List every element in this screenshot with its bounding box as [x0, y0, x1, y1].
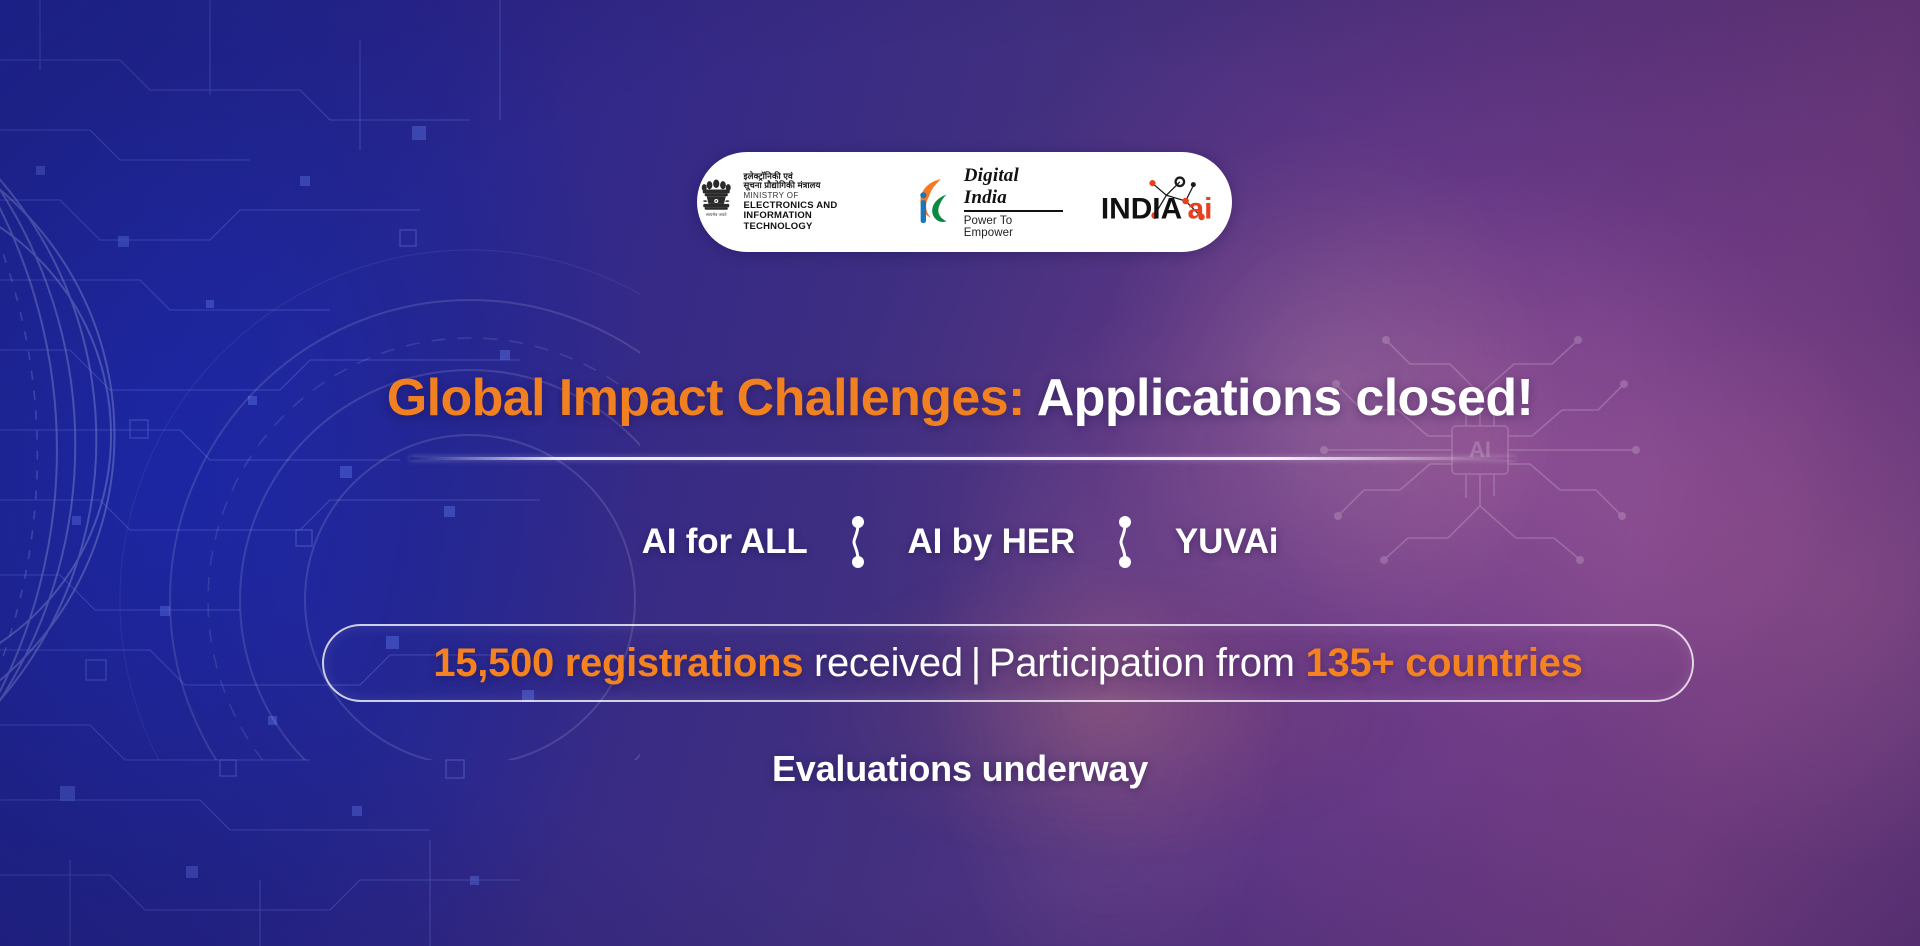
meity-english-line-3: INFORMATION TECHNOLOGY	[743, 211, 878, 232]
registrations-value: 15,500 registrations	[433, 641, 803, 685]
meity-logo: सत्यमेव जयते इलेक्ट्रॉनिकी एवं सूचना प्र…	[697, 172, 878, 233]
countries-prefix: Participation from	[989, 641, 1306, 685]
challenge-yuvai: YUVAi	[1175, 522, 1278, 562]
logo-bar: सत्यमेव जयते इलेक्ट्रॉनिकी एवं सूचना प्र…	[697, 152, 1232, 252]
digital-india-title: Digital India	[964, 165, 1063, 212]
dumbbell-connector-icon	[846, 512, 870, 572]
meity-hindi-line-2: सूचना प्रौद्योगिकी मंत्रालय	[743, 181, 878, 191]
indiaai-logo: INDIA ai	[1097, 171, 1232, 233]
headline-highlight: Global Impact Challenges:	[387, 369, 1025, 427]
statistics-box: 15,500 registrations received|Participat…	[322, 624, 1694, 702]
status-text: Evaluations underway	[0, 748, 1920, 790]
indiaai-text-accent: ai	[1188, 192, 1213, 225]
dumbbell-connector-icon-2	[1113, 512, 1137, 572]
challenge-ai-for-all: AI for ALL	[642, 522, 808, 562]
indiaai-text-dark: INDIA	[1101, 192, 1182, 225]
title-divider	[410, 457, 1515, 460]
digital-india-logo: Digital India Power To Empower	[912, 165, 1063, 239]
challenge-list: AI for ALL AI by HER YUVAi	[0, 512, 1920, 572]
countries-value: 135+ countries	[1306, 641, 1583, 685]
digital-india-mark-icon	[912, 174, 954, 230]
stats-divider: |	[963, 641, 989, 685]
digital-india-tagline: Power To Empower	[964, 215, 1063, 239]
background-vignette	[0, 0, 1920, 946]
emblem-motto-text: सत्यमेव जयते	[706, 212, 727, 217]
india-state-emblem-icon: सत्यमेव जयते	[697, 174, 735, 230]
registrations-suffix: received	[803, 641, 963, 685]
headline-rest: Applications closed!	[1025, 369, 1533, 427]
challenge-ai-by-her: AI by HER	[908, 522, 1075, 562]
statistics-text: 15,500 registrations received|Participat…	[433, 641, 1582, 686]
page-title: Global Impact Challenges: Applications c…	[0, 368, 1920, 428]
promotional-banner: AI	[0, 0, 1920, 946]
